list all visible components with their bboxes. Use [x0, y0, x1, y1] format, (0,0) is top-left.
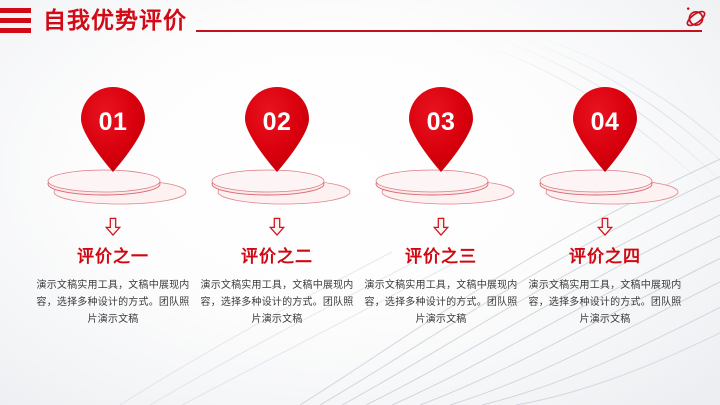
column-heading: 评价之三: [353, 246, 529, 268]
pin-number: 02: [240, 108, 314, 136]
map-pin-marker[interactable]: 03: [404, 86, 478, 172]
pin-pedestal-group: 02: [189, 86, 365, 206]
arrow-down-icon: [189, 216, 365, 238]
column-heading: 评价之二: [189, 246, 365, 268]
column-heading: 评价之四: [517, 246, 693, 268]
evaluation-column[interactable]: 01 评价之一 演示文稿实用工具，文稿中展现内容，选择多种设计的方式。团队照片演…: [25, 86, 201, 328]
slide-canvas: 自我优势评价: [0, 0, 720, 405]
evaluation-column[interactable]: 02 评价之二 演示文稿实用工具，文稿中展现内容，选择多种设计的方式。团队照片演…: [189, 86, 365, 328]
map-pin-marker[interactable]: 01: [76, 86, 150, 172]
pin-pedestal-group: 03: [353, 86, 529, 206]
evaluation-column[interactable]: 04 评价之四 演示文稿实用工具，文稿中展现内容，选择多种设计的方式。团队照片演…: [517, 86, 693, 328]
arrow-down-icon: [517, 216, 693, 238]
column-description: 演示文稿实用工具，文稿中展现内容，选择多种设计的方式。团队照片演示文稿: [517, 277, 693, 328]
pin-pedestal-group: 01: [25, 86, 201, 206]
pin-number: 03: [404, 108, 478, 136]
column-description: 演示文稿实用工具，文稿中展现内容，选择多种设计的方式。团队照片演示文稿: [25, 277, 201, 328]
column-description: 演示文稿实用工具，文稿中展现内容，选择多种设计的方式。团队照片演示文稿: [353, 277, 529, 328]
column-description: 演示文稿实用工具，文稿中展现内容，选择多种设计的方式。团队照片演示文稿: [189, 277, 365, 328]
map-pin-marker[interactable]: 04: [568, 86, 642, 172]
arrow-down-icon: [353, 216, 529, 238]
evaluation-columns: 01 评价之一 演示文稿实用工具，文稿中展现内容，选择多种设计的方式。团队照片演…: [0, 0, 720, 405]
pin-pedestal-group: 04: [517, 86, 693, 206]
arrow-down-icon: [25, 216, 201, 238]
pin-number: 01: [76, 108, 150, 136]
map-pin-marker[interactable]: 02: [240, 86, 314, 172]
column-heading: 评价之一: [25, 246, 201, 268]
evaluation-column[interactable]: 03 评价之三 演示文稿实用工具，文稿中展现内容，选择多种设计的方式。团队照片演…: [353, 86, 529, 328]
pin-number: 04: [568, 108, 642, 136]
